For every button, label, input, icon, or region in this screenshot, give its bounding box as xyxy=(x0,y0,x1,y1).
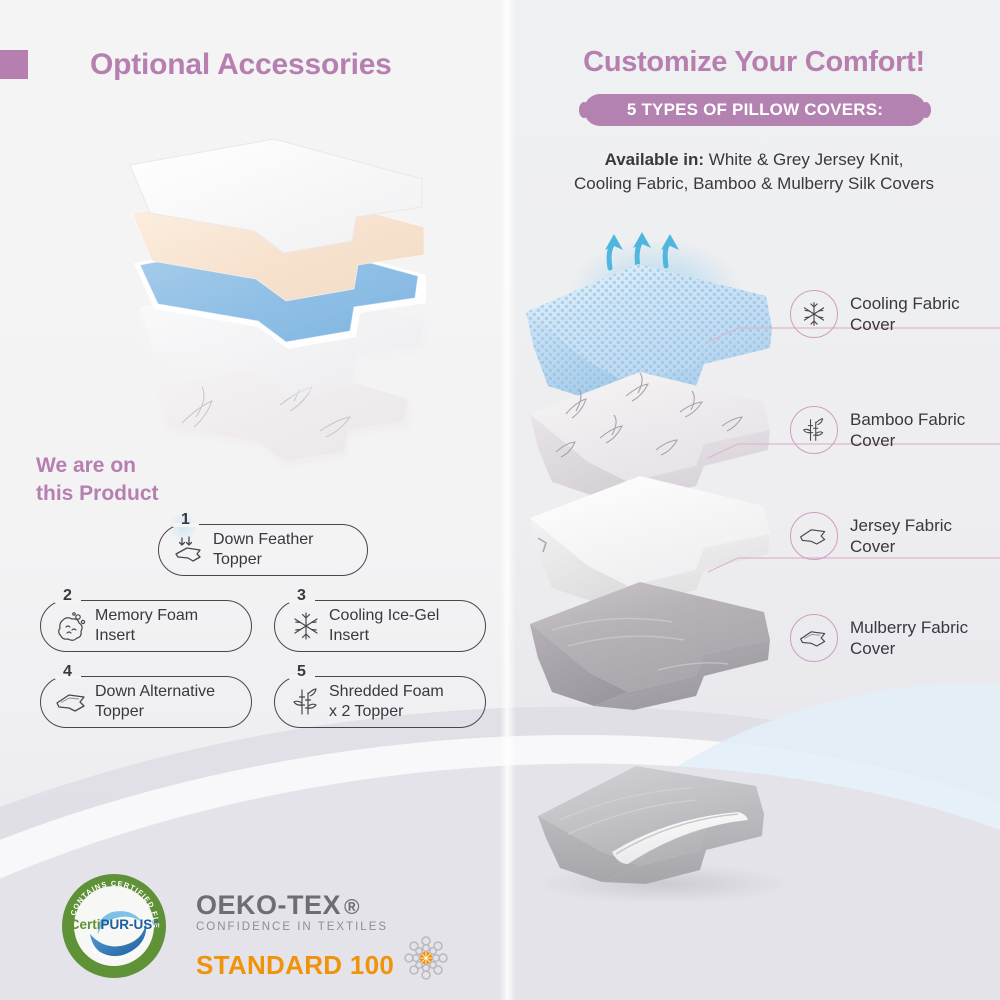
cover-label-jersey[interactable]: Jersey Fabric Cover xyxy=(790,512,952,560)
oeko-flower-icon xyxy=(402,934,450,982)
bamboo-icon xyxy=(790,406,838,454)
snowflake-icon xyxy=(283,610,329,642)
accessory-chip-5-label: Shredded Foam x 2 Topper xyxy=(329,682,444,722)
accessory-chip-3[interactable]: 3 Cooling Ice-Gel Insert xyxy=(274,600,486,652)
svg-text:CertiPUR-US®: CertiPUR-US® xyxy=(70,917,159,932)
corner-accent-square xyxy=(0,50,28,79)
certipur-us-badge: CONTAINS CERTIFIED FLEXIBLE POLYURETHANE… xyxy=(60,872,168,980)
we-are-on-product-label: We are on this Product xyxy=(36,452,256,507)
accessory-chip-4-label: Down Alternative Topper xyxy=(95,682,215,722)
availability-line1: White & Grey Jersey Knit, xyxy=(704,150,903,169)
down-feather-topper-icon xyxy=(167,536,213,564)
bamboo-icon xyxy=(283,686,329,718)
cover-label-cooling[interactable]: Cooling Fabric Cover xyxy=(790,290,960,338)
product-photo-grey-pillow xyxy=(520,742,802,902)
accessory-chip-5[interactable]: 5 Shredded Foam x 2 Topper xyxy=(274,676,486,728)
we-are-on-line1: We are on this Product xyxy=(36,454,159,505)
cover-label-mulberry-text: Mulberry Fabric Cover xyxy=(850,617,968,660)
cover-label-bamboo-text: Bamboo Fabric Cover xyxy=(850,409,965,452)
oeko-tex-name: OEKO-TEX xyxy=(196,890,341,920)
accessory-chip-4-number: 4 xyxy=(59,664,76,680)
pillow-outline-icon xyxy=(790,512,838,560)
accessory-chip-2-label: Memory Foam Insert xyxy=(95,606,198,646)
infographic-canvas: Optional Accessories xyxy=(0,0,1000,1000)
cover-label-bamboo[interactable]: Bamboo Fabric Cover xyxy=(790,406,965,454)
availability-text: Available in: White & Grey Jersey Knit, … xyxy=(516,148,992,196)
cover-label-mulberry[interactable]: Mulberry Fabric Cover xyxy=(790,614,968,662)
oeko-standard-row: STANDARD 100 xyxy=(196,934,496,978)
availability-prefix: Available in: xyxy=(605,150,705,169)
accessory-chip-1[interactable]: 1 Down Feather Topper xyxy=(158,524,368,576)
pillow-outline-icon xyxy=(790,614,838,662)
accessory-chip-2[interactable]: 2 Memory Foam Insert xyxy=(40,600,252,652)
accessory-chip-2-number: 2 xyxy=(59,588,76,604)
cover-label-jersey-text: Jersey Fabric Cover xyxy=(850,515,952,558)
availability-line2: Cooling Fabric, Bamboo & Mulberry Silk C… xyxy=(574,174,934,193)
accessory-chip-5-number: 5 xyxy=(293,664,310,680)
oeko-tex-subtitle: CONFIDENCE IN TEXTILES xyxy=(196,922,496,934)
accessory-chip-4[interactable]: 4 Down Alternative Topper xyxy=(40,676,252,728)
snowflake-icon xyxy=(790,290,838,338)
oeko-tex-badge: OEKO-TEX® CONFIDENCE IN TEXTILES STANDAR… xyxy=(196,892,496,972)
accessory-chip-3-label: Cooling Ice-Gel Insert xyxy=(329,606,439,646)
accessory-chip-3-number: 3 xyxy=(293,588,310,604)
accessory-chip-1-label: Down Feather Topper xyxy=(213,530,314,570)
oeko-standard-label: STANDARD 100 xyxy=(196,952,394,978)
page-title-left: Optional Accessories xyxy=(90,48,470,82)
cover-label-cooling-text: Cooling Fabric Cover xyxy=(850,293,960,336)
pillow-covers-badge: 5 TYPES OF PILLOW COVERS: xyxy=(584,94,926,126)
page-title-right: Customize Your Comfort! xyxy=(516,46,992,79)
memory-foam-icon xyxy=(49,610,95,642)
pillow-outline-icon xyxy=(49,689,95,715)
accessory-chip-1-number: 1 xyxy=(177,512,194,528)
oeko-tex-registered: ® xyxy=(344,896,360,919)
oeko-tex-title: OEKO-TEX® xyxy=(196,892,496,919)
accessory-stack-illustration xyxy=(110,135,470,475)
pillow-covers-badge-label: 5 TYPES OF PILLOW COVERS: xyxy=(627,100,883,120)
